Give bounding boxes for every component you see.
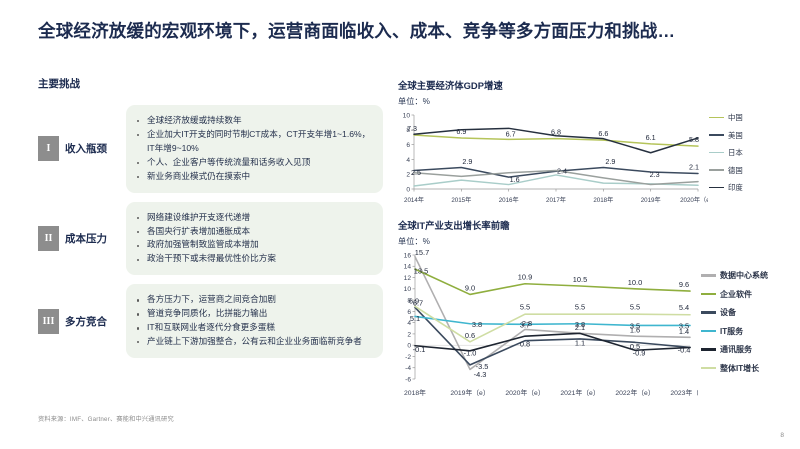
svg-text:4: 4: [406, 157, 410, 164]
svg-text:2.9: 2.9: [605, 157, 615, 166]
svg-text:5.1: 5.1: [410, 314, 420, 323]
svg-text:2.1: 2.1: [689, 162, 699, 171]
legend-color-swatch: [701, 274, 716, 276]
svg-text:2019年: 2019年: [641, 196, 661, 204]
chart-gdp-legend: 中国美国日本德国印度: [709, 112, 743, 200]
svg-text:7.3: 7.3: [407, 124, 417, 133]
chart-it-title: 全球IT产业支出增长率前瞻: [398, 218, 773, 232]
svg-text:2: 2: [406, 172, 410, 179]
svg-text:2: 2: [407, 331, 411, 338]
svg-text:9.6: 9.6: [679, 280, 689, 289]
legend-label: 日本: [728, 147, 743, 158]
svg-text:-2: -2: [405, 354, 411, 361]
svg-text:14: 14: [404, 264, 412, 271]
challenge-numeral-2: II: [38, 226, 59, 251]
legend-item[interactable]: 通讯服务: [701, 344, 768, 355]
legend-color-swatch: [701, 348, 716, 350]
list-item: 政治干预下或未得最优性价比方案: [134, 252, 373, 266]
legend-color-swatch: [701, 330, 716, 332]
svg-text:-6: -6: [405, 376, 411, 383]
challenge-badge-group-1: I 收入瓶颈: [38, 136, 126, 161]
svg-text:13.5: 13.5: [414, 267, 428, 276]
svg-text:0: 0: [407, 343, 411, 350]
challenge-numeral-1: I: [38, 136, 59, 161]
svg-text:3.5: 3.5: [679, 321, 689, 330]
svg-text:10.0: 10.0: [628, 278, 642, 287]
legend-label: 整体IT增长: [720, 363, 759, 374]
legend-item[interactable]: 企业软件: [701, 289, 768, 300]
svg-text:6.7: 6.7: [506, 129, 516, 138]
list-item: 个人、企业客户等传统流量和话务收入见顶: [134, 156, 373, 170]
svg-text:2.4: 2.4: [557, 167, 567, 176]
svg-text:5.5: 5.5: [520, 303, 530, 312]
slide-root: 全球经济放缓的宏观环境下，运营商面临收入、成本、竞争等多方面压力和挑战… 主要挑…: [0, 0, 800, 449]
svg-text:0.6: 0.6: [465, 331, 475, 340]
challenge-bullet-list-2: 网络建设维护开支逐代递增 各国央行扩表增加通胀成本 政府加强管制致监管成本增加 …: [134, 211, 373, 267]
svg-text:0.8: 0.8: [520, 340, 530, 349]
svg-text:6.9: 6.9: [456, 127, 466, 136]
svg-text:10.9: 10.9: [518, 273, 532, 282]
svg-text:10: 10: [404, 286, 412, 293]
legend-label: 美国: [728, 130, 743, 141]
svg-text:2.5: 2.5: [411, 168, 421, 177]
svg-text:16: 16: [404, 252, 412, 259]
svg-text:12: 12: [404, 275, 412, 282]
legend-label: 数据中心系统: [720, 270, 768, 281]
list-item: 全球经济放缓或持续数年: [134, 114, 373, 128]
challenge-label-1: 收入瓶颈: [65, 141, 107, 156]
svg-text:-0.1: -0.1: [413, 345, 426, 354]
list-item: 产业链上下游加强整合，公有云和企业业务面临新竞争者: [134, 335, 373, 349]
svg-text:3.8: 3.8: [472, 320, 482, 329]
legend-color-swatch: [709, 187, 724, 189]
svg-text:2017年: 2017年: [546, 196, 566, 204]
list-item: IT和互联网业者逐代分食更多蛋糕: [134, 321, 373, 335]
legend-label: IT服务: [720, 326, 743, 337]
list-item: 管道竞争同质化，比拼能力输出: [134, 307, 373, 321]
legend-item[interactable]: 中国: [709, 112, 743, 123]
svg-text:15.7: 15.7: [415, 249, 429, 257]
source-note: 资料来源：IMF、Gartner、赛能和中兴通讯研究: [38, 414, 174, 423]
svg-text:6: 6: [406, 142, 410, 149]
svg-text:0: 0: [406, 186, 410, 193]
svg-text:5.4: 5.4: [679, 303, 689, 312]
chart-it-legend: 数据中心系统企业软件设备IT服务通讯服务整体IT增长: [701, 270, 768, 381]
legend-item[interactable]: 整体IT增长: [701, 363, 768, 374]
svg-text:6.6: 6.6: [598, 129, 608, 138]
challenge-label-3: 多方竞合: [65, 314, 107, 329]
chart-gdp-svg: 02468107.36.96.76.86.66.15.82.52.91.62.4…: [398, 109, 708, 205]
svg-text:5.5: 5.5: [575, 303, 585, 312]
legend-item[interactable]: 印度: [709, 182, 743, 193]
svg-text:2019年（e）: 2019年（e）: [450, 388, 489, 397]
legend-color-swatch: [709, 169, 724, 171]
legend-color-swatch: [709, 152, 724, 154]
challenge-card-3: 各方压力下，运营商之间竞合加剧 管道竞争同质化，比拼能力输出 IT和互联网业者逐…: [126, 284, 383, 358]
chart-gdp-title: 全球主要经济体GDP增速: [398, 78, 773, 92]
chart-it-svg: -6-4-2024681012141615.7-4.32.82.11.61.41…: [398, 249, 698, 399]
svg-text:6.1: 6.1: [646, 133, 656, 142]
list-item: 各方压力下，运营商之间竞合加剧: [134, 293, 373, 307]
legend-color-swatch: [701, 293, 716, 295]
svg-text:2014年: 2014年: [404, 196, 424, 204]
challenge-bullet-list-3: 各方压力下，运营商之间竞合加剧 管道竞争同质化，比拼能力输出 IT和互联网业者逐…: [134, 293, 373, 349]
chart-it-unit: 单位：%: [398, 235, 773, 247]
legend-item[interactable]: IT服务: [701, 326, 768, 337]
page-number: 8: [780, 432, 784, 439]
legend-item[interactable]: 设备: [701, 307, 768, 318]
legend-label: 设备: [720, 307, 736, 318]
svg-text:-4.3: -4.3: [474, 370, 487, 379]
legend-item[interactable]: 美国: [709, 130, 743, 141]
legend-item[interactable]: 数据中心系统: [701, 270, 768, 281]
challenges-heading: 主要挑战: [38, 76, 383, 91]
svg-text:10.5: 10.5: [573, 275, 587, 284]
chart-gdp-unit: 单位：%: [398, 95, 773, 107]
page-title: 全球经济放缓的宏观环境下，运营商面临收入、成本、竞争等多方面压力和挑战…: [38, 18, 758, 43]
chart-it-spend: 全球IT产业支出增长率前瞻 单位：% -6-4-2024681012141615…: [398, 218, 773, 408]
list-item: 网络建设维护开支逐代递增: [134, 211, 373, 225]
legend-color-swatch: [701, 311, 716, 313]
legend-color-swatch: [709, 117, 724, 119]
challenge-numeral-3: III: [38, 309, 59, 334]
svg-text:6.8: 6.8: [551, 128, 561, 137]
legend-color-swatch: [709, 134, 724, 136]
svg-text:3.5: 3.5: [630, 321, 640, 330]
challenge-card-2: 网络建设维护开支逐代递增 各国央行扩表增加通胀成本 政府加强管制致监管成本增加 …: [126, 202, 383, 276]
svg-text:9.0: 9.0: [465, 283, 475, 292]
challenge-label-2: 成本压力: [65, 231, 107, 246]
svg-text:3.8: 3.8: [575, 320, 585, 329]
challenge-row-3: III 多方竞合 各方压力下，运营商之间竞合加剧 管道竞争同质化，比拼能力输出 …: [38, 284, 383, 358]
svg-text:2020年（e）: 2020年（e）: [680, 196, 708, 204]
challenge-card-1: 全球经济放缓或持续数年 企业加大IT开支的同时节制CT成本，CT开支年增1~1.…: [126, 105, 383, 193]
list-item: 新业务商业模式仍在摸索中: [134, 170, 373, 184]
svg-text:2.3: 2.3: [650, 170, 660, 179]
svg-text:10: 10: [403, 112, 411, 119]
svg-text:5.5: 5.5: [630, 303, 640, 312]
svg-text:2020年（e）: 2020年（e）: [505, 388, 544, 397]
challenge-row-1: I 收入瓶颈 全球经济放缓或持续数年 企业加大IT开支的同时节制CT成本，CT开…: [38, 105, 383, 193]
svg-text:-3.5: -3.5: [476, 362, 489, 371]
legend-color-swatch: [701, 367, 716, 369]
legend-label: 通讯服务: [720, 344, 752, 355]
svg-text:1.1: 1.1: [575, 338, 585, 347]
svg-text:-4: -4: [405, 365, 411, 372]
svg-text:1.6: 1.6: [510, 175, 520, 184]
svg-text:2022年（e）: 2022年（e）: [615, 388, 654, 397]
list-item: 政府加强管制致监管成本增加: [134, 238, 373, 252]
challenge-bullet-list-1: 全球经济放缓或持续数年 企业加大IT开支的同时节制CT成本，CT开支年增1~1.…: [134, 114, 373, 184]
svg-text:-0.4: -0.4: [678, 345, 691, 354]
svg-text:2021年（e）: 2021年（e）: [560, 388, 599, 397]
list-item: 企业加大IT开支的同时节制CT成本，CT开支年增1~1.6%，IT年增9~10%: [134, 128, 373, 156]
legend-item[interactable]: 日本: [709, 147, 743, 158]
legend-item[interactable]: 德国: [709, 165, 743, 176]
legend-label: 中国: [728, 112, 743, 123]
challenges-panel: 主要挑战 I 收入瓶颈 全球经济放缓或持续数年 企业加大IT开支的同时节制CT成…: [38, 76, 383, 367]
svg-text:-0.9: -0.9: [633, 348, 646, 357]
challenge-badge-group-3: III 多方竞合: [38, 309, 126, 334]
challenge-badge-group-2: II 成本压力: [38, 226, 126, 251]
legend-label: 印度: [728, 182, 743, 193]
svg-text:-1.0: -1.0: [464, 348, 477, 357]
svg-text:2015年: 2015年: [451, 196, 471, 204]
list-item: 各国央行扩表增加通胀成本: [134, 225, 373, 239]
chart-gdp-growth: 全球主要经济体GDP增速 单位：% 02468107.36.96.76.86.6…: [398, 78, 773, 206]
svg-text:2.9: 2.9: [462, 157, 472, 166]
svg-text:2018年: 2018年: [593, 196, 613, 204]
legend-label: 企业软件: [720, 289, 752, 300]
svg-text:2018年: 2018年: [404, 388, 426, 397]
svg-text:6.9: 6.9: [409, 296, 419, 305]
svg-text:5.8: 5.8: [689, 135, 699, 144]
challenge-row-2: II 成本压力 网络建设维护开支逐代递增 各国央行扩表增加通胀成本 政府加强管制…: [38, 202, 383, 276]
svg-text:2016年: 2016年: [499, 196, 519, 204]
legend-label: 德国: [728, 165, 743, 176]
svg-text:3.7: 3.7: [520, 320, 530, 329]
svg-text:2023年（e）: 2023年（e）: [670, 388, 698, 397]
